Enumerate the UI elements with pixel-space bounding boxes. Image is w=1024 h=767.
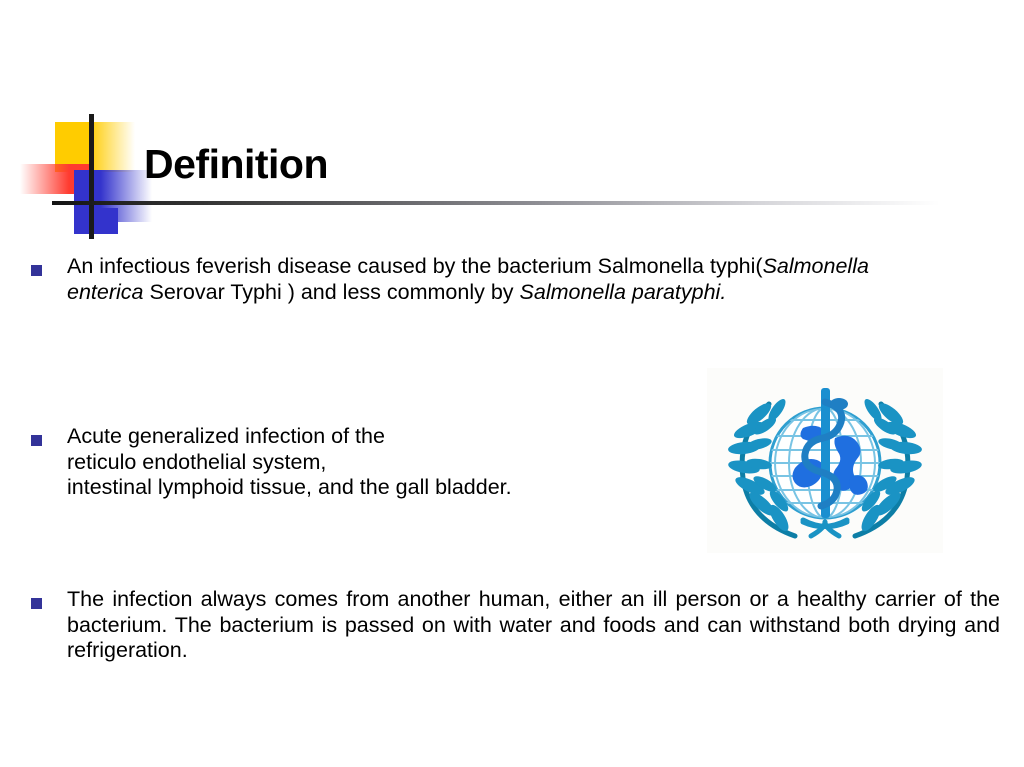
bullet-1-text: An infectious feverish disease caused by… <box>0 254 930 305</box>
list-item: An infectious feverish disease caused by… <box>0 254 930 305</box>
bullet-square-icon <box>31 435 42 446</box>
bullet-square-icon <box>31 598 42 609</box>
page-title: Definition <box>144 142 328 186</box>
bullet-2-text: Acute generalized infection of thereticu… <box>0 424 700 501</box>
decoration-horizontal-rule <box>52 201 940 205</box>
decoration-blue-foot <box>74 208 118 234</box>
bullet-square-icon <box>31 265 42 276</box>
bullet-2-line-2: reticulo endothelial system, <box>67 450 326 474</box>
decoration-vertical-line <box>89 114 94 239</box>
bullet-1-seg-2: typhi( <box>710 254 763 278</box>
bullet-2-line-3: intestinal lymphoid tissue, and the gall… <box>67 475 512 499</box>
bullet-3-text: The infection always comes from another … <box>0 587 1010 664</box>
bullet-2-line-1: Acute generalized infection of the <box>67 424 385 448</box>
bullet-1-seg-6: . <box>720 280 726 304</box>
who-emblem-image <box>707 368 943 553</box>
bullet-1-seg-4: Serovar Typhi ) and less commonly by <box>144 280 514 304</box>
list-item: Acute generalized infection of thereticu… <box>0 424 700 501</box>
bullet-1-seg-1: An infectious feverish disease caused by… <box>67 254 704 278</box>
bullet-1-seg-5: Salmonella paratyphi <box>520 280 721 304</box>
slide: Definition An infectious feverish diseas… <box>0 0 1024 767</box>
list-item: The infection always comes from another … <box>0 587 1010 664</box>
